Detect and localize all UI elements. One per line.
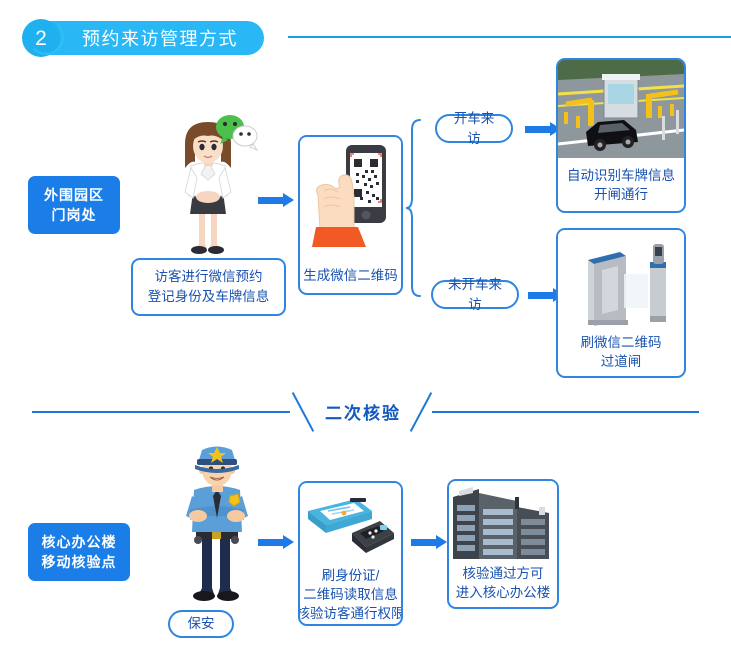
branch-connector-brace <box>404 118 430 298</box>
result-card-vehicle-gate: 自动识别车牌信息 开闸通行 <box>556 58 686 213</box>
arrow-device-to-result <box>411 535 447 549</box>
qr-card-caption-text: 生成微信二维码 <box>303 266 398 285</box>
result-turnstile-line1: 刷微信二维码 <box>581 333 662 352</box>
header-rule <box>288 36 731 38</box>
result-turnstile-line2: 过道闸 <box>601 352 642 371</box>
result-card-turnstile: 刷微信二维码 过道闸 <box>556 228 686 378</box>
id-reader-and-handheld-terminal-icon <box>300 483 401 563</box>
result-building-line1: 核验通过方可 <box>463 564 544 583</box>
step-number-text: 2 <box>35 28 47 49</box>
guard-role-label: 保安 <box>168 610 234 638</box>
stage-label-core-line2: 移动核验点 <box>40 552 118 572</box>
divider-line-right <box>432 411 699 413</box>
stage-label-perimeter-line1: 外围园区 <box>40 185 108 205</box>
stage-label-perimeter: 外围园区 门岗处 <box>28 176 120 234</box>
office-building-photo <box>449 481 557 559</box>
security-guard-avatar-icon <box>168 440 268 610</box>
divider-label: 二次核验 <box>325 399 401 424</box>
page-title: 预约来访管理方式 <box>46 21 264 55</box>
visitor-box-line2: 登记身份及车牌信息 <box>148 287 270 307</box>
step-number-badge: 2 <box>22 19 60 57</box>
result-card-building-access: 核验通过方可 进入核心办公楼 <box>447 479 559 609</box>
divider-line-left <box>32 411 290 413</box>
qr-card-caption: 生成微信二维码 <box>300 257 401 293</box>
branch-label-no-car: 未开车来访 <box>431 280 519 309</box>
arrow-guard-to-device <box>258 535 294 549</box>
device-line3: 核验访客通行权限 <box>298 604 403 623</box>
device-line1: 刷身份证/ <box>322 566 380 585</box>
stage-label-perimeter-line2: 门岗处 <box>40 205 108 225</box>
branch-label-no-car-text: 未开车来访 <box>445 275 505 315</box>
result-building-line2: 进入核心办公楼 <box>456 583 551 602</box>
result-card-vehicle-caption: 自动识别车牌信息 开闸通行 <box>558 158 684 211</box>
divider-slash-left <box>292 392 314 432</box>
stage-label-core-building: 核心办公楼 移动核验点 <box>28 523 130 581</box>
arrow-visitor-to-qr <box>258 193 294 207</box>
branch-label-by-car: 开车来访 <box>435 114 513 143</box>
visitor-registration-box: 访客进行微信预约 登记身份及车牌信息 <box>131 258 286 316</box>
section-header: 2 预约来访管理方式 <box>22 18 264 58</box>
wechat-logo-icon <box>214 112 260 157</box>
parking-barrier-gate-photo <box>558 60 684 158</box>
result-vehicle-line2: 开闸通行 <box>594 185 648 204</box>
stage-label-core-line1: 核心办公楼 <box>40 532 118 552</box>
verification-device-card: 刷身份证/ 二维码读取信息 核验访客通行权限 <box>298 481 403 626</box>
divider-slash-right <box>410 392 432 432</box>
flowchart-page: 2 预约来访管理方式 外围园区 门岗处 <box>0 0 731 653</box>
qr-generation-card: 生成微信二维码 <box>298 135 403 295</box>
result-vehicle-line1: 自动识别车牌信息 <box>567 166 675 185</box>
branch-label-by-car-text: 开车来访 <box>449 109 499 149</box>
turnstile-gate-photo <box>558 230 684 328</box>
result-card-turnstile-caption: 刷微信二维码 过道闸 <box>558 328 684 376</box>
device-line2: 二维码读取信息 <box>303 585 398 604</box>
result-building-caption: 核验通过方可 进入核心办公楼 <box>449 559 557 607</box>
hand-phone-qrcode-icon <box>300 137 401 257</box>
verification-device-caption: 刷身份证/ 二维码读取信息 核验访客通行权限 <box>300 563 401 626</box>
visitor-box-line1: 访客进行微信预约 <box>155 267 263 287</box>
guard-role-label-text: 保安 <box>188 614 215 634</box>
